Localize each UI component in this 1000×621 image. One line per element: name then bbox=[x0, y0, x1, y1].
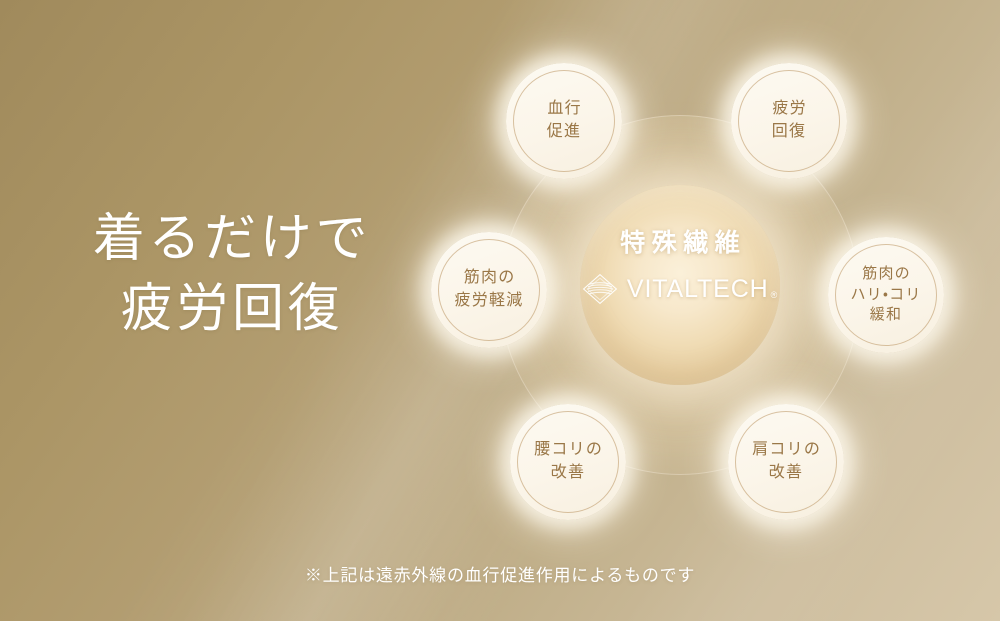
benefit-label: 肩コリの 改善 bbox=[751, 439, 821, 484]
benefit-bubble-blood-circulation[interactable]: 血行 促進 bbox=[506, 63, 622, 179]
benefit-bubble-shoulder[interactable]: 肩コリの 改善 bbox=[728, 404, 844, 520]
registered-mark-icon: ® bbox=[771, 290, 779, 300]
benefit-label: 筋肉の 疲労軽減 bbox=[454, 267, 523, 312]
vitaltech-woven-diamond-icon bbox=[582, 273, 618, 305]
benefit-bubble-muscle-stiffness[interactable]: 筋肉の ハリ・コリ 緩和 bbox=[828, 237, 944, 353]
headline-line-2: 疲労回復 bbox=[62, 275, 402, 345]
promo-banner: 着るだけで 疲労回復 特殊繊維 bbox=[0, 0, 1000, 621]
benefit-label: 血行 促進 bbox=[546, 98, 582, 143]
benefit-label: 腰コリの 改善 bbox=[533, 439, 603, 484]
benefit-bubble-fatigue-recovery[interactable]: 疲労 回復 bbox=[731, 63, 847, 179]
brand-wordmark: VITALTECH ® bbox=[627, 275, 778, 304]
benefit-label: 疲労 回復 bbox=[771, 98, 807, 143]
orb-title: 特殊繊維 bbox=[500, 223, 860, 259]
orb-content: 特殊繊維 VITALTECH ® bbox=[500, 223, 860, 305]
page-title: 着るだけで 疲労回復 bbox=[62, 205, 402, 344]
benefit-bubble-lower-back[interactable]: 腰コリの 改善 bbox=[510, 404, 626, 520]
headline-line-1: 着るだけで bbox=[93, 211, 371, 268]
brand-name: VITALTECH bbox=[627, 275, 769, 304]
brand-logo: VITALTECH ® bbox=[500, 273, 860, 305]
benefit-bubble-muscle-fatigue[interactable]: 筋肉の 疲労軽減 bbox=[431, 232, 547, 348]
disclaimer-note: ※上記は遠赤外線の血行促進作用によるものです bbox=[0, 561, 1000, 586]
benefit-label: 筋肉の ハリ・コリ 緩和 bbox=[850, 264, 921, 325]
